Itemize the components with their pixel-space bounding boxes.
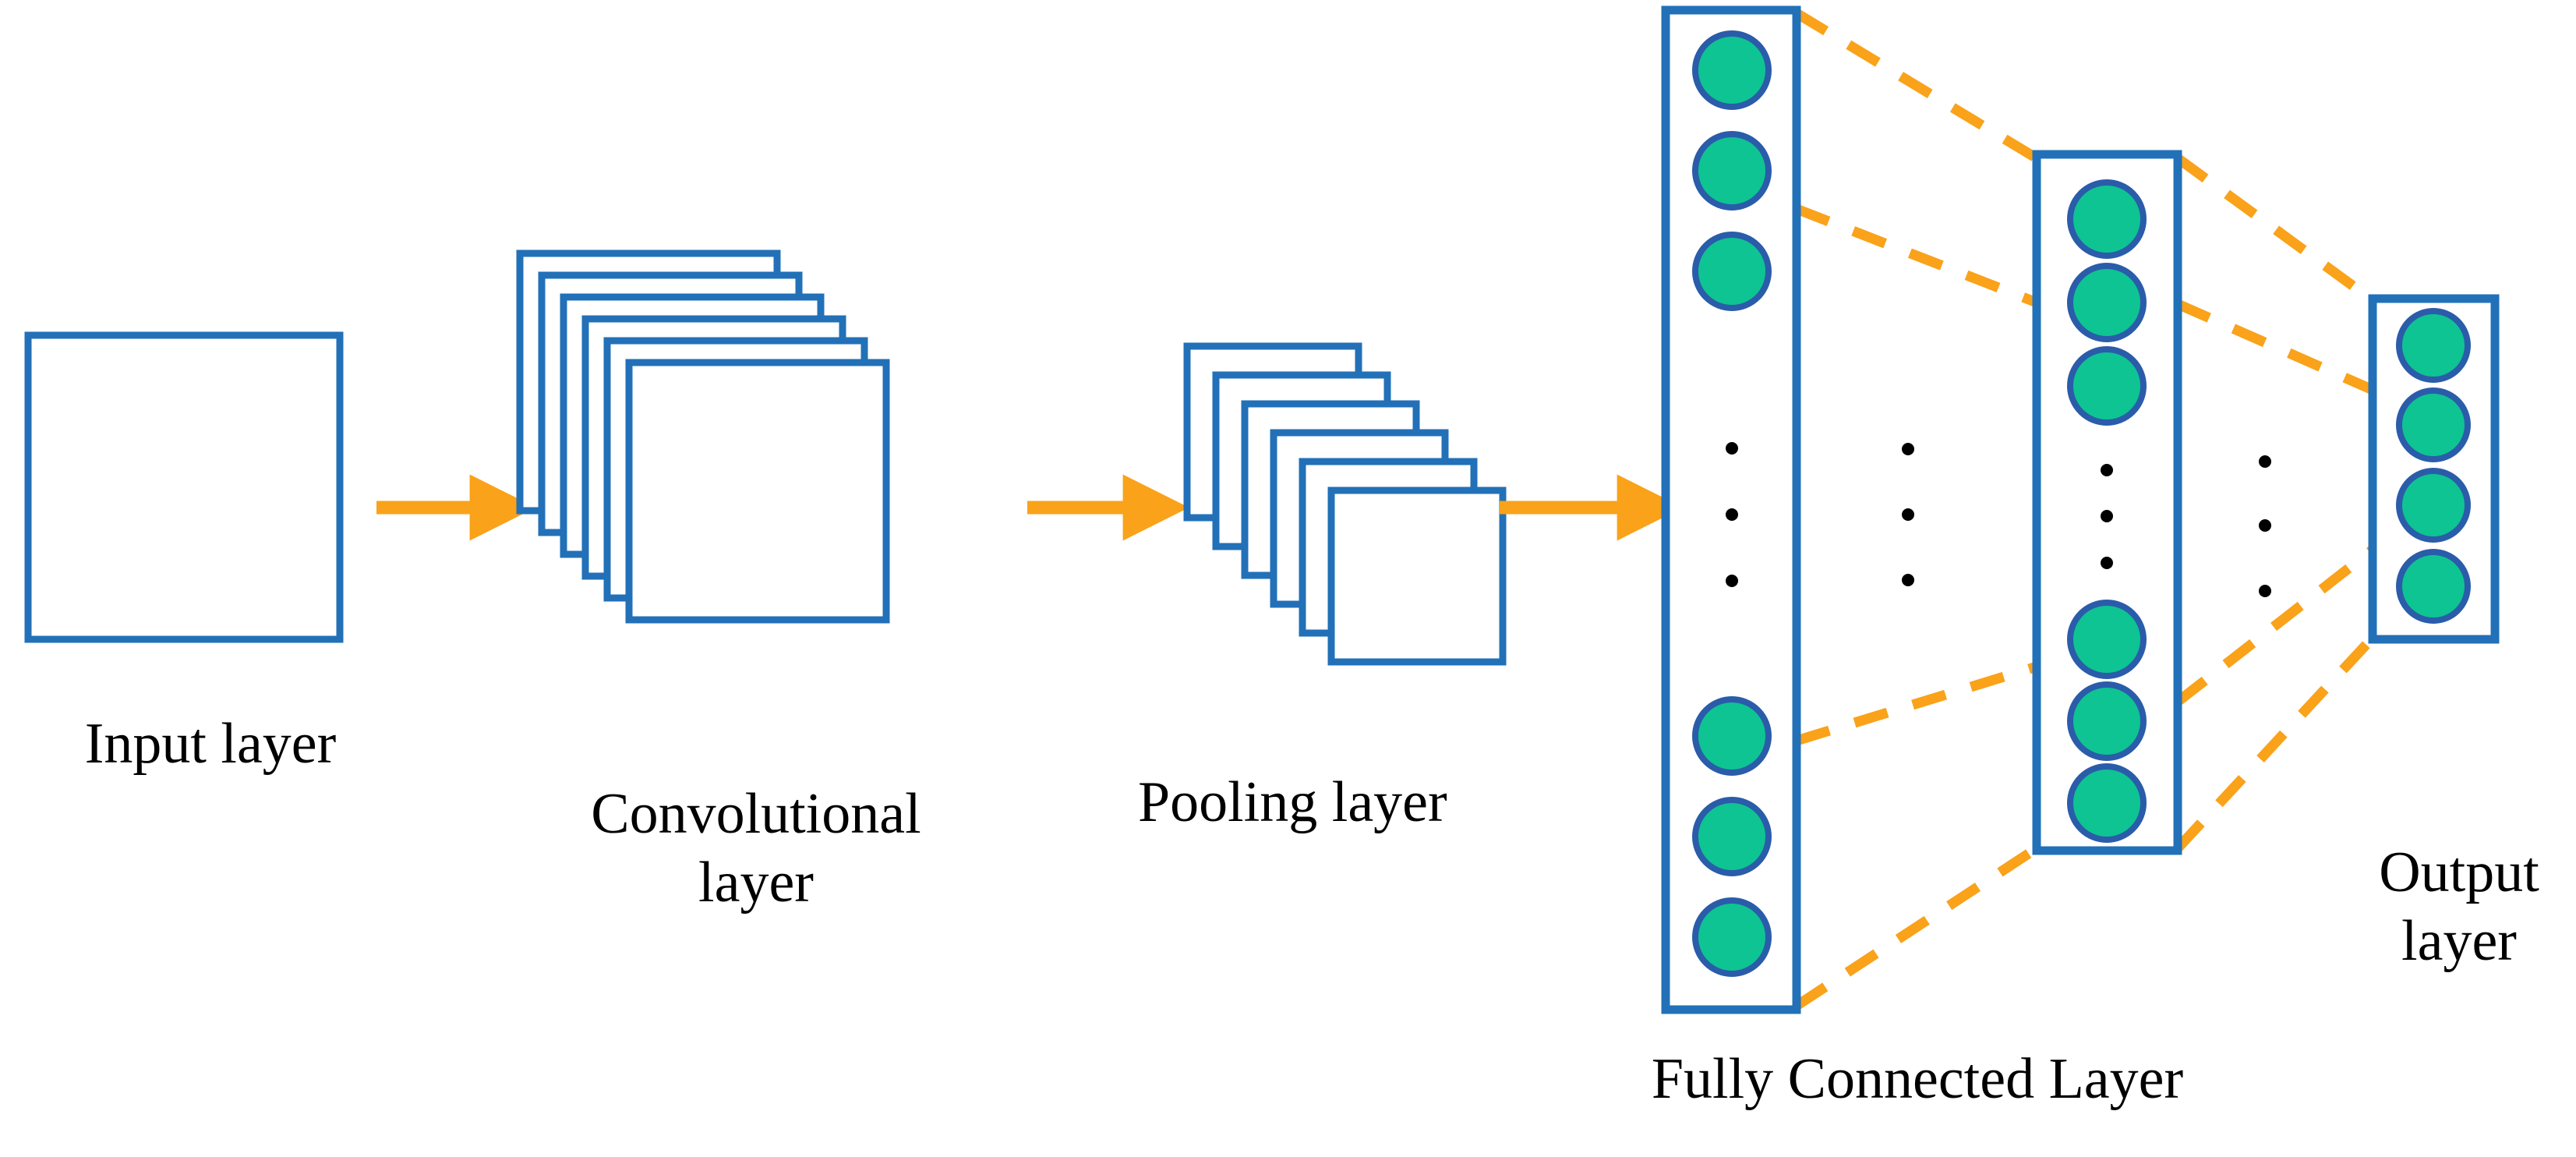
- fc-ellipsis-dot: [1726, 508, 1738, 521]
- hidden-ellipsis-dot: [2101, 557, 2113, 569]
- ellipsis-dot: [2259, 455, 2271, 468]
- cnn-architecture-diagram: Input layer Convolutional layer Pooling …: [0, 0, 2576, 1157]
- fc-node: [1695, 800, 1769, 873]
- hidden-node: [2070, 349, 2143, 423]
- hidden-ellipsis-dot: [2101, 464, 2113, 476]
- connection-line: [1797, 209, 2037, 303]
- output-layer-label: Output layer: [2346, 838, 2572, 975]
- connection-line: [1797, 848, 2037, 1006]
- ellipsis-dot: [2259, 519, 2271, 532]
- connection-line: [1797, 667, 2037, 741]
- fc-node: [1695, 134, 1769, 207]
- hidden-layer: [2037, 154, 2178, 851]
- input-layer-label: Input layer: [23, 709, 398, 778]
- fully-connected-layer: [1666, 10, 1797, 1010]
- convolutional-layer: [520, 253, 886, 620]
- connection-line: [1797, 13, 2037, 158]
- output-layer: [2373, 299, 2495, 639]
- connection-line: [2178, 638, 2373, 848]
- pooling-layer: [1187, 346, 1503, 662]
- fc-ellipsis-dot: [1726, 442, 1738, 455]
- connections-hidden-to-output: [2178, 158, 2373, 848]
- output-node: [2399, 552, 2468, 621]
- fc-node: [1695, 699, 1769, 773]
- connection-line: [2178, 304, 2373, 390]
- hidden-ellipsis-dot: [2101, 510, 2113, 522]
- diagram-canvas: [0, 0, 2576, 1157]
- ellipsis-dot: [1902, 508, 1914, 521]
- input-layer-square: [28, 335, 340, 639]
- input-layer: [28, 335, 340, 639]
- output-node: [2399, 471, 2468, 540]
- pool-square-1: [1331, 490, 1503, 662]
- convolutional-layer-label: Convolutional layer: [546, 780, 966, 917]
- hidden-node: [2070, 685, 2143, 758]
- pooling-layer-label: Pooling layer: [1138, 768, 1574, 837]
- hidden-node: [2070, 766, 2143, 840]
- connections-fc-to-hidden: [1797, 13, 2037, 1006]
- ellipsis-fc-hidden: [1902, 443, 1914, 586]
- ellipsis-dot: [2259, 585, 2271, 597]
- output-node: [2399, 311, 2468, 380]
- fc-node: [1695, 34, 1769, 107]
- ellipsis-hidden-output: [2259, 455, 2271, 597]
- hidden-node: [2070, 603, 2143, 676]
- fully-connected-layer-label: Fully Connected Layer: [1528, 1045, 2307, 1113]
- hidden-node: [2070, 182, 2143, 256]
- fc-ellipsis-dot: [1726, 575, 1738, 587]
- connection-line: [2178, 158, 2373, 300]
- ellipsis-dot: [1902, 574, 1914, 586]
- hidden-node: [2070, 266, 2143, 339]
- connection-line: [2178, 550, 2373, 702]
- output-node: [2399, 391, 2468, 459]
- fc-node: [1695, 900, 1769, 974]
- conv-square-1: [629, 363, 886, 620]
- fc-node: [1695, 235, 1769, 308]
- ellipsis-dot: [1902, 443, 1914, 455]
